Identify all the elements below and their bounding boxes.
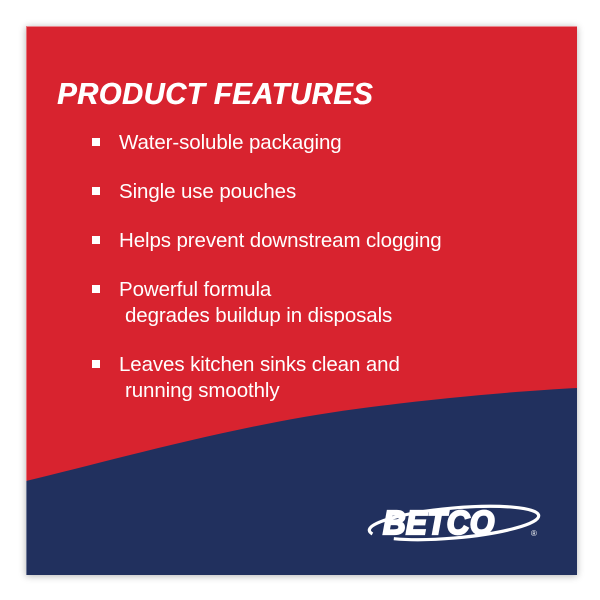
feature-text-line2: degrades buildup in disposals (119, 303, 532, 329)
bullet-square-icon (92, 236, 100, 244)
betco-logo-svg: BETCO ® (364, 494, 544, 552)
feature-list: Water-soluble packaging Single use pouch… (92, 130, 532, 404)
screenshot-stage: PRODUCT FEATURES Water-soluble packaging… (0, 0, 600, 600)
page-title: PRODUCT FEATURES (57, 76, 373, 112)
bullet-square-icon (92, 187, 100, 195)
list-item: Water-soluble packaging (92, 130, 532, 156)
list-item: Helps prevent downstream clogging (92, 228, 532, 254)
registered-trademark-icon: ® (531, 529, 537, 538)
bullet-square-icon (92, 285, 100, 293)
list-item: Powerful formula degrades buildup in dis… (92, 277, 532, 329)
betco-logo: BETCO ® (364, 494, 544, 552)
list-item: Leaves kitchen sinks clean and running s… (92, 352, 532, 404)
bullet-square-icon (92, 360, 100, 368)
bullet-square-icon (92, 138, 100, 146)
product-features-card: PRODUCT FEATURES Water-soluble packaging… (26, 26, 577, 575)
feature-text-line1: Leaves kitchen sinks clean and (119, 353, 400, 376)
list-item: Single use pouches (92, 179, 532, 205)
feature-text-line1: Helps prevent downstream clogging (119, 229, 442, 252)
feature-text-line1: Powerful formula (119, 278, 271, 301)
feature-text-line1: Water-soluble packaging (119, 131, 342, 154)
feature-text-line1: Single use pouches (119, 180, 296, 203)
feature-text-line2: running smoothly (119, 378, 532, 404)
logo-wordmark-text: BETCO (383, 504, 495, 541)
